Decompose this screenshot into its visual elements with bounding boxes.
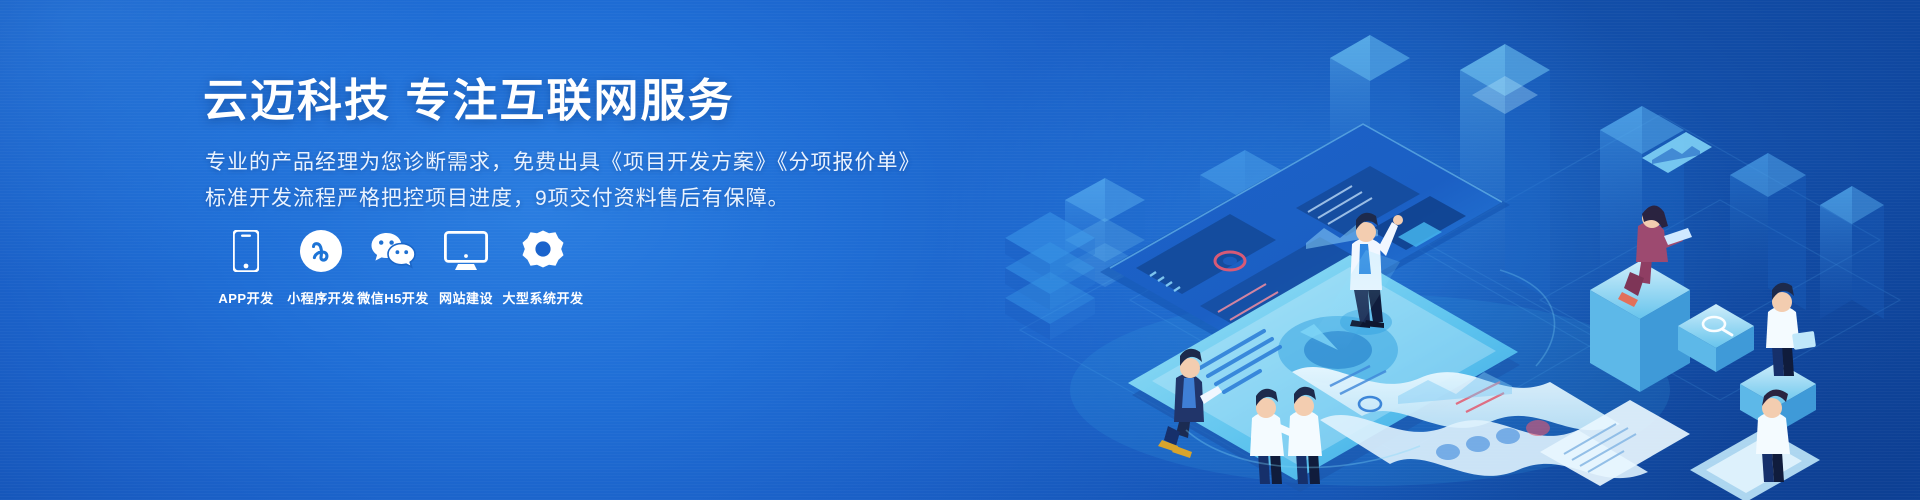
wechat-icon xyxy=(370,228,416,274)
mini-program-icon xyxy=(300,228,342,274)
subtitle-line-2: 标准开发流程严格把控项目进度，9项交付资料售后有保障。 xyxy=(205,182,790,212)
mobile-phone-icon xyxy=(233,228,259,274)
page-title: 云迈科技 专注互联网服务 xyxy=(203,76,735,126)
service-label: 大型系统开发 xyxy=(503,288,584,307)
service-label: 微信H5开发 xyxy=(357,288,429,307)
service-list: APP开发 小程序开发 xyxy=(207,228,583,307)
service-item-system[interactable]: 大型系统开发 xyxy=(503,228,583,307)
service-item-app[interactable]: APP开发 xyxy=(207,228,285,307)
service-item-mini-program[interactable]: 小程序开发 xyxy=(285,228,357,307)
promo-banner: 云迈科技 专注互联网服务 专业的产品经理为您诊断需求，免费出具《项目开发方案》《… xyxy=(0,0,1920,500)
service-item-website[interactable]: 网站建设 xyxy=(429,228,503,307)
service-label: 小程序开发 xyxy=(287,288,355,307)
subtitle-line-1: 专业的产品经理为您诊断需求，免费出具《项目开发方案》《分项报价单》 xyxy=(205,146,921,176)
service-label: APP开发 xyxy=(218,288,273,307)
service-item-wechat[interactable]: 微信H5开发 xyxy=(357,228,429,307)
monitor-icon xyxy=(444,228,488,274)
banner-content: 云迈科技 专注互联网服务 专业的产品经理为您诊断需求，免费出具《项目开发方案》《… xyxy=(203,0,903,500)
service-label: 网站建设 xyxy=(439,288,493,307)
gear-icon xyxy=(522,228,564,274)
